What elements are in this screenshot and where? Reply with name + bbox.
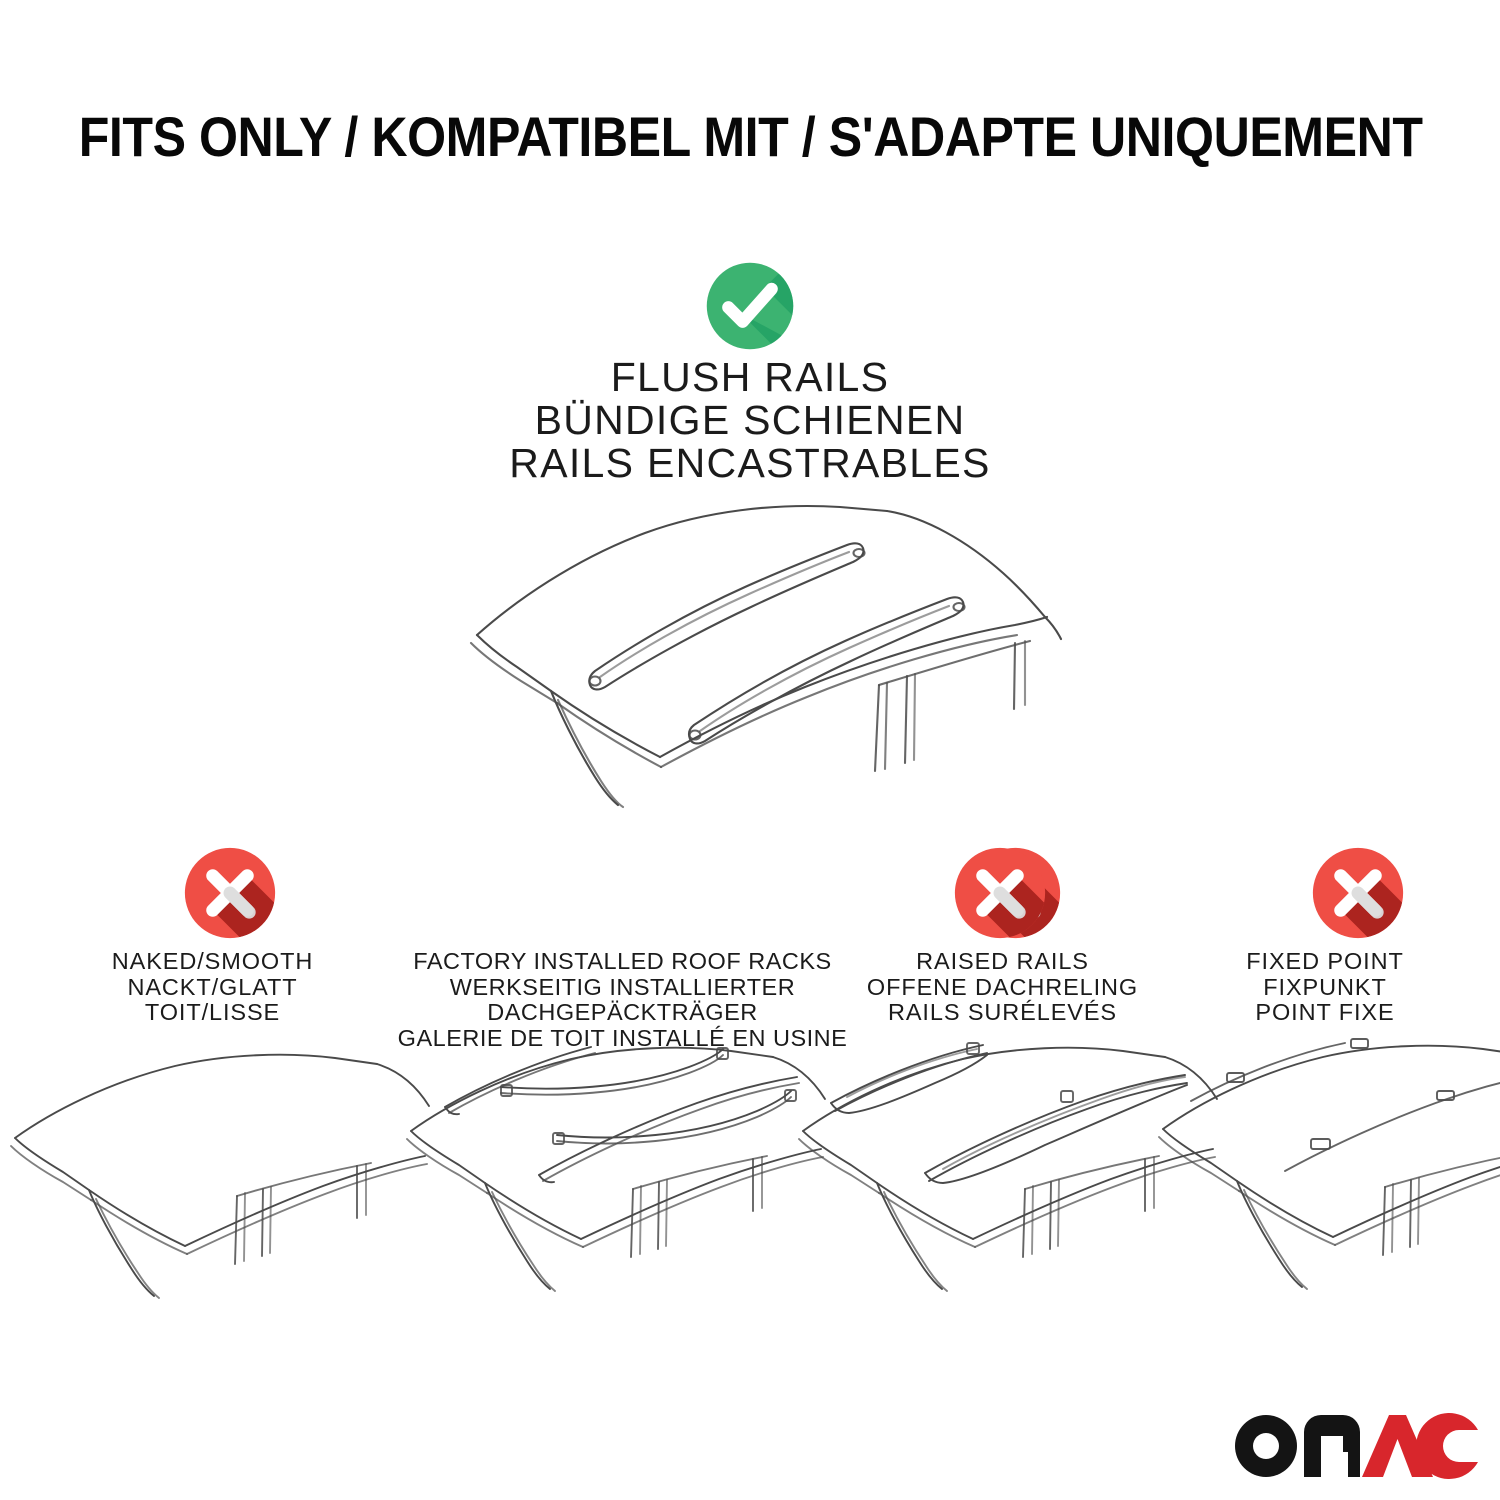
compatible-label-line-fr: RAILS ENCASTRABLES [250,442,1250,485]
compatible-label-line-de: BÜNDIGE SCHIENEN [250,399,1250,442]
car-roof-fixed-point-illustration [1155,1045,1500,1295]
incompatible-label-naked-smooth: NAKED/SMOOTH NACKT/GLATT TOIT/LISSE [20,949,405,1026]
label-line-fr: TOIT/LISSE [20,1000,405,1026]
label-line-de: OFFENE DACHRELING [820,975,1185,1001]
incompatible-label-raised-rails: RAISED RAILS OFFENE DACHRELING RAILS SUR… [820,949,1185,1026]
cross-circle-icon [1310,845,1406,941]
label-line-en: RAISED RAILS [820,949,1185,975]
label-line-fr: POINT FIXE [1160,1000,1490,1026]
label-line-de: FIXPUNKT [1160,975,1490,1001]
incompatible-label-factory-roof-racks: FACTORY INSTALLED ROOF RACKS WERKSEITIG … [395,949,850,1051]
label-line-de-2: DACHGEPÄCKTRÄGER [395,1000,850,1026]
cross-circle-icon [952,845,1048,941]
car-roof-bare-illustration [5,1050,435,1300]
compatible-label: FLUSH RAILS BÜNDIGE SCHIENEN RAILS ENCAS… [250,356,1250,485]
car-roof-with-crossbars-illustration [405,1045,835,1295]
label-line-de-1: WERKSEITIG INSTALLIERTER [395,975,850,1001]
incompatible-section: NAKED/SMOOTH NACKT/GLATT TOIT/LISSE [0,845,1500,1315]
label-line-de: NACKT/GLATT [20,975,405,1001]
label-line-en: NAKED/SMOOTH [20,949,405,975]
label-line-en: FIXED POINT [1160,949,1490,975]
label-line-fr: RAILS SURÉLEVÉS [820,1000,1185,1026]
compatible-label-line-en: FLUSH RAILS [250,356,1250,399]
compatible-section: FLUSH RAILS BÜNDIGE SCHIENEN RAILS ENCAS… [0,0,1500,820]
incompatible-label-fixed-point: FIXED POINT FIXPUNKT POINT FIXE [1160,949,1490,1026]
cross-circle-icon [182,845,278,941]
label-line-en: FACTORY INSTALLED ROOF RACKS [395,949,850,975]
check-circle-icon [704,260,796,352]
omac-logo [1232,1408,1480,1480]
car-roof-with-flush-rails-illustration [455,495,1070,805]
